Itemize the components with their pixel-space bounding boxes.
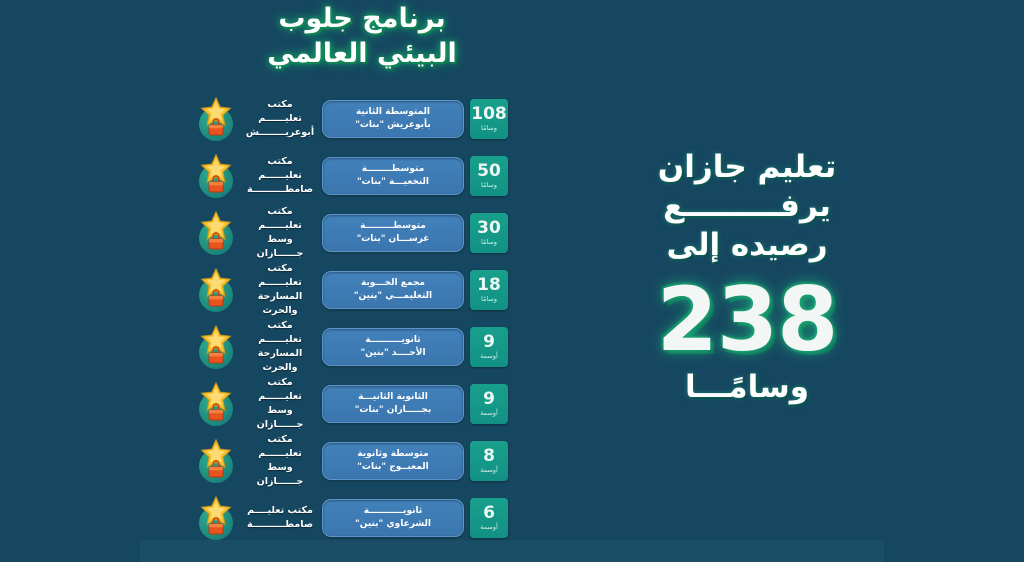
table-row-6: مكتب تعليــــــم وسط جــــــازان الثانوي… [196, 381, 508, 427]
medal-count-number: 18 [477, 277, 501, 294]
school-name-pill: مجمع الخـــوبة التعليمـــي "بنين" [322, 271, 464, 309]
medal-count-label: وسامًا [481, 182, 497, 189]
star-medal-icon [196, 268, 236, 312]
school-name-pill: الثانوية الثانيـــة بجـــــازان "بنات" [322, 385, 464, 423]
medal-count-label: وسامًا [481, 125, 497, 132]
headline-line-2: يرفـــــــــع [642, 187, 852, 226]
headline-line-1: تعليم جازان [642, 148, 852, 187]
medal-count-label: وسامًا [481, 296, 497, 303]
school-name-pill: المتوسطة الثانية بأبوعريش "بنات" [322, 100, 464, 138]
headline-block: تعليم جازان يرفـــــــــع رصيده إلى 238 … [642, 148, 852, 405]
school-name-pill: متوسطة وثانوية المعبــوج "بنات" [322, 442, 464, 480]
education-office-name: مكتب تعليــــــم وسط جــــــازان [242, 433, 316, 488]
medal-count-badge: 8 أوسمة [470, 441, 508, 481]
education-office-name: مكتب تعليــــــم وسط جــــــازان [242, 205, 316, 260]
medal-count-number: 8 [483, 448, 495, 465]
table-row-7: مكتب تعليــــــم وسط جــــــازان متوسطة … [196, 438, 508, 484]
medal-count-badge: 9 أوسمة [470, 384, 508, 424]
medal-count-number: 9 [483, 391, 495, 408]
medal-count-label: أوسمة [480, 353, 498, 360]
star-medal-icon [196, 325, 236, 369]
star-medal-icon [196, 439, 236, 483]
medal-count-badge: 30 وسامًا [470, 213, 508, 253]
medal-count-number: 50 [477, 163, 501, 180]
headline-line-3: رصيده إلى [642, 226, 852, 265]
medal-count-label: أوسمة [480, 524, 498, 531]
table-row-8: مكتب تعليــــم صامطــــــــــة ثانويــــ… [196, 495, 508, 541]
school-name-pill: متوسطــــــــة النخعيـــة "بنات" [322, 157, 464, 195]
education-office-name: مكتب تعليــــــم وسط جــــــازان [242, 376, 316, 431]
medal-count-badge: 50 وسامًا [470, 156, 508, 196]
school-name-pill: متوسطـــــــــة غرســـان "بنات" [322, 214, 464, 252]
medal-count-badge: 108 وسامًا [470, 99, 508, 139]
education-office-name: مكتب تعليــــــم المسارحة والحرث [242, 262, 316, 317]
medal-count-number: 30 [477, 220, 501, 237]
page-title: برنامج جلوب البيئي العالمي [232, 2, 492, 71]
medal-count-number: 9 [483, 334, 495, 351]
education-office-name: مكتب تعليــــم صامطــــــــــة [242, 504, 316, 532]
star-medal-icon [196, 496, 236, 540]
star-medal-icon [196, 382, 236, 426]
star-medal-icon [196, 97, 236, 141]
infographic-canvas: برنامج جلوب البيئي العالمي تعليم جازان ي… [0, 0, 1024, 562]
education-office-name: مكتب تعليــــــم المسارحة والحرث [242, 319, 316, 374]
table-row-4: مكتب تعليــــــم المسارحة والحرث مجمع ال… [196, 267, 508, 313]
medal-count-number: 6 [483, 505, 495, 522]
education-office-name: مكتب تعليــــــم صامطــــــــــة [242, 155, 316, 196]
ranking-list: مكتب تعليــــــم أبوعريــــــــش المتوسط… [196, 96, 508, 552]
medal-count-label: أوسمة [480, 410, 498, 417]
education-office-name: مكتب تعليــــــم أبوعريــــــــش [242, 98, 316, 139]
table-row-2: مكتب تعليــــــم صامطــــــــــة متوسطــ… [196, 153, 508, 199]
table-row-1: مكتب تعليــــــم أبوعريــــــــش المتوسط… [196, 96, 508, 142]
medal-count-label: وسامًا [481, 239, 497, 246]
table-row-3: مكتب تعليــــــم وسط جــــــازان متوسطــ… [196, 210, 508, 256]
star-medal-icon [196, 154, 236, 198]
medal-count-badge: 9 أوسمة [470, 327, 508, 367]
table-row-5: مكتب تعليــــــم المسارحة والحرث ثانويــ… [196, 324, 508, 370]
total-medals-unit: وسامًـــا [642, 369, 852, 405]
school-name-pill: ثانويــــــــــة الأحــــد "بنين" [322, 328, 464, 366]
star-medal-icon [196, 211, 236, 255]
school-name-pill: ثانويـــــــــــة الشرعاوي "بنين" [322, 499, 464, 537]
total-medals-number: 238 [642, 277, 852, 363]
medal-count-number: 108 [471, 106, 507, 123]
medal-count-badge: 18 وسامًا [470, 270, 508, 310]
medal-count-badge: 6 أوسمة [470, 498, 508, 538]
medal-count-label: أوسمة [480, 467, 498, 474]
